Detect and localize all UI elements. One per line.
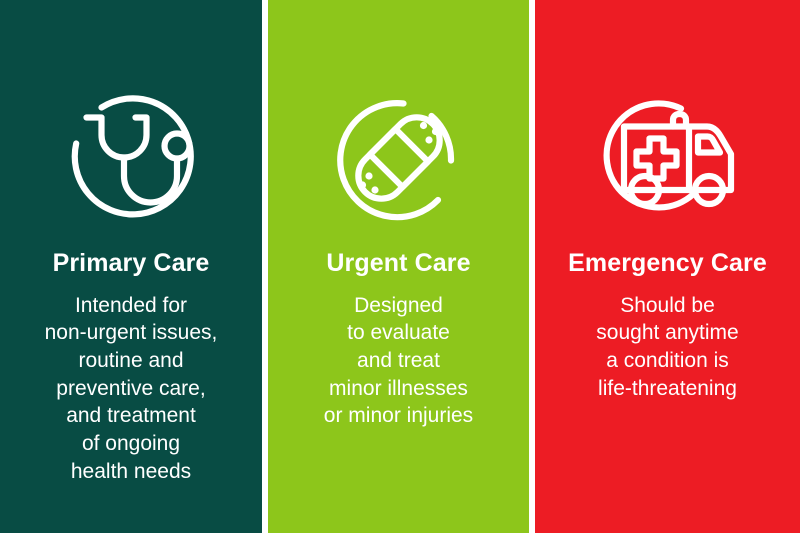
panel-title-urgent-care: Urgent Care: [326, 250, 470, 278]
panel-title-primary-care: Primary Care: [53, 250, 210, 278]
care-levels-infographic: Primary Care Intended for non-urgent iss…: [0, 0, 800, 533]
panel-body-emergency-care: Should be sought anytime a condition is …: [586, 292, 748, 403]
panel-emergency-care: Emergency Care Should be sought anytime …: [535, 0, 800, 533]
panel-body-urgent-care: Designed to evaluate and treat minor ill…: [314, 292, 483, 431]
stethoscope-icon: [57, 84, 205, 232]
panel-title-emergency-care: Emergency Care: [568, 250, 767, 278]
ambulance-icon: [594, 84, 742, 232]
panel-urgent-care: Urgent Care Designed to evaluate and tre…: [268, 0, 529, 533]
panel-primary-care: Primary Care Intended for non-urgent iss…: [0, 0, 262, 533]
bandage-icon: [325, 84, 473, 232]
panel-body-primary-care: Intended for non-urgent issues, routine …: [35, 292, 228, 486]
